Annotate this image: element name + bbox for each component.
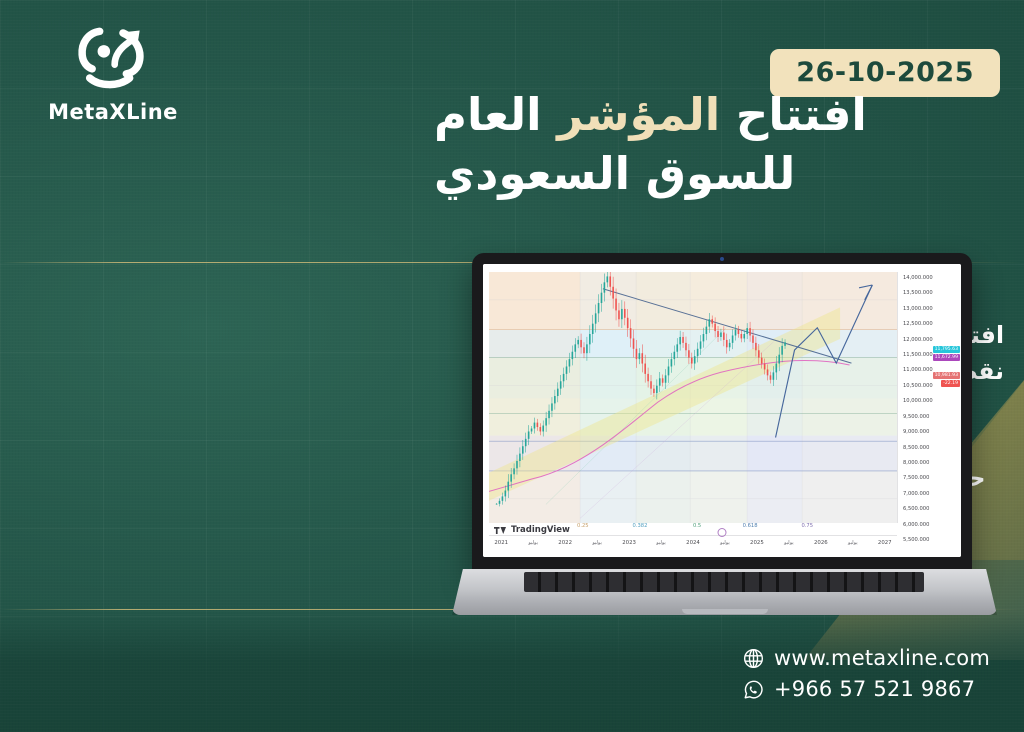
whatsapp-icon xyxy=(742,678,765,701)
laptop-lid: 14,000.00013,500.00013,000.00012,500.000… xyxy=(472,253,972,573)
chart-time-axis[interactable]: 2021يوليو2022يوليو2023يوليو2024يوليو2025… xyxy=(489,535,897,551)
time-tick: يوليو xyxy=(720,540,730,546)
time-tick: يوليو xyxy=(848,540,858,546)
contact-footer: www.metaxline.com +966 57 521 9867 xyxy=(742,646,990,708)
brand-name: MetaXLine xyxy=(28,100,198,124)
price-tick: 10,500.000 xyxy=(903,383,933,389)
time-tick: 2027 xyxy=(878,540,892,546)
time-tick: يوليو xyxy=(656,540,666,546)
time-tick: 2024 xyxy=(686,540,700,546)
headline-line1-after: العام xyxy=(434,88,557,141)
price-badge: -22.19 xyxy=(941,380,960,387)
fib-level-label: 0.382 xyxy=(633,523,648,529)
fib-level-label: 0.618 xyxy=(743,523,758,529)
phone-row[interactable]: +966 57 521 9867 xyxy=(742,677,990,701)
laptop-trackpad-notch xyxy=(682,609,768,614)
laptop-mockup: 14,000.00013,500.00013,000.00012,500.000… xyxy=(452,253,997,653)
metaxline-growth-arrow-logo-icon xyxy=(70,18,156,98)
price-tick: 8,500.000 xyxy=(903,445,929,451)
time-tick: 2023 xyxy=(622,540,636,546)
webcam-icon xyxy=(720,257,724,261)
price-tick: 9,000.000 xyxy=(903,429,929,435)
headline-line-1: افتتاح المؤشر العام xyxy=(434,88,994,141)
fib-level-label: 0.25 xyxy=(577,523,589,529)
laptop-screen: 14,000.00013,500.00013,000.00012,500.000… xyxy=(483,264,961,557)
price-tick: 6,500.000 xyxy=(903,506,929,512)
price-tick: 14,000.000 xyxy=(903,275,933,281)
time-tick: 2026 xyxy=(814,540,828,546)
time-tick: يوليو xyxy=(592,540,602,546)
time-tick: 2022 xyxy=(558,540,572,546)
price-tick: 12,500.000 xyxy=(903,321,933,327)
tradingview-logo: TradingView xyxy=(494,525,570,535)
chart-price-axis[interactable]: 14,000.00013,500.00013,000.00012,500.000… xyxy=(897,272,961,523)
chart-canvas xyxy=(489,272,897,523)
price-badge: 11,672.99 xyxy=(933,354,960,361)
price-tick: 11,500.000 xyxy=(903,352,933,358)
price-badge: 10,981.93 xyxy=(933,372,960,379)
price-tick: 12,000.000 xyxy=(903,337,933,343)
time-tick: 2021 xyxy=(494,540,508,546)
price-tick: 10,000.000 xyxy=(903,398,933,404)
time-tick: يوليو xyxy=(784,540,794,546)
chart-indicator-badge[interactable] xyxy=(718,528,727,537)
tradingview-chart[interactable]: 14,000.00013,500.00013,000.00012,500.000… xyxy=(483,264,961,557)
time-tick: يوليو xyxy=(528,540,538,546)
price-tick: 9,500.000 xyxy=(903,414,929,420)
poster-canvas: MetaXLine 26-10-2025 افتتاح المؤشر العام… xyxy=(0,0,1024,732)
laptop-keyboard xyxy=(524,572,924,592)
fib-level-label: 0.75 xyxy=(801,523,813,529)
price-tick: 7,500.000 xyxy=(903,475,929,481)
headline-line1-highlight: المؤشر xyxy=(557,88,720,141)
price-tick: 13,000.000 xyxy=(903,306,933,312)
price-tick: 6,000.000 xyxy=(903,522,929,528)
time-tick: 2025 xyxy=(750,540,764,546)
price-tick: 5,500.000 xyxy=(903,537,929,543)
headline-line-2: للسوق السعودي xyxy=(434,147,994,200)
fib-level-label: 0.5 xyxy=(693,523,701,529)
phone-text: +966 57 521 9867 xyxy=(774,677,975,701)
chart-plot-area[interactable] xyxy=(489,272,897,523)
headline-line1-before: افتتاح xyxy=(720,88,867,141)
price-tick: 13,500.000 xyxy=(903,290,933,296)
page-title: افتتاح المؤشر العام للسوق السعودي xyxy=(434,88,994,200)
brand-logo: MetaXLine xyxy=(28,18,198,124)
price-tick: 8,000.000 xyxy=(903,460,929,466)
tradingview-label: TradingView xyxy=(511,525,570,535)
price-tick: 11,000.000 xyxy=(903,367,933,373)
price-badge: 11,795.63 xyxy=(933,346,960,353)
price-tick: 7,000.000 xyxy=(903,491,929,497)
tradingview-mark-icon xyxy=(494,526,507,535)
